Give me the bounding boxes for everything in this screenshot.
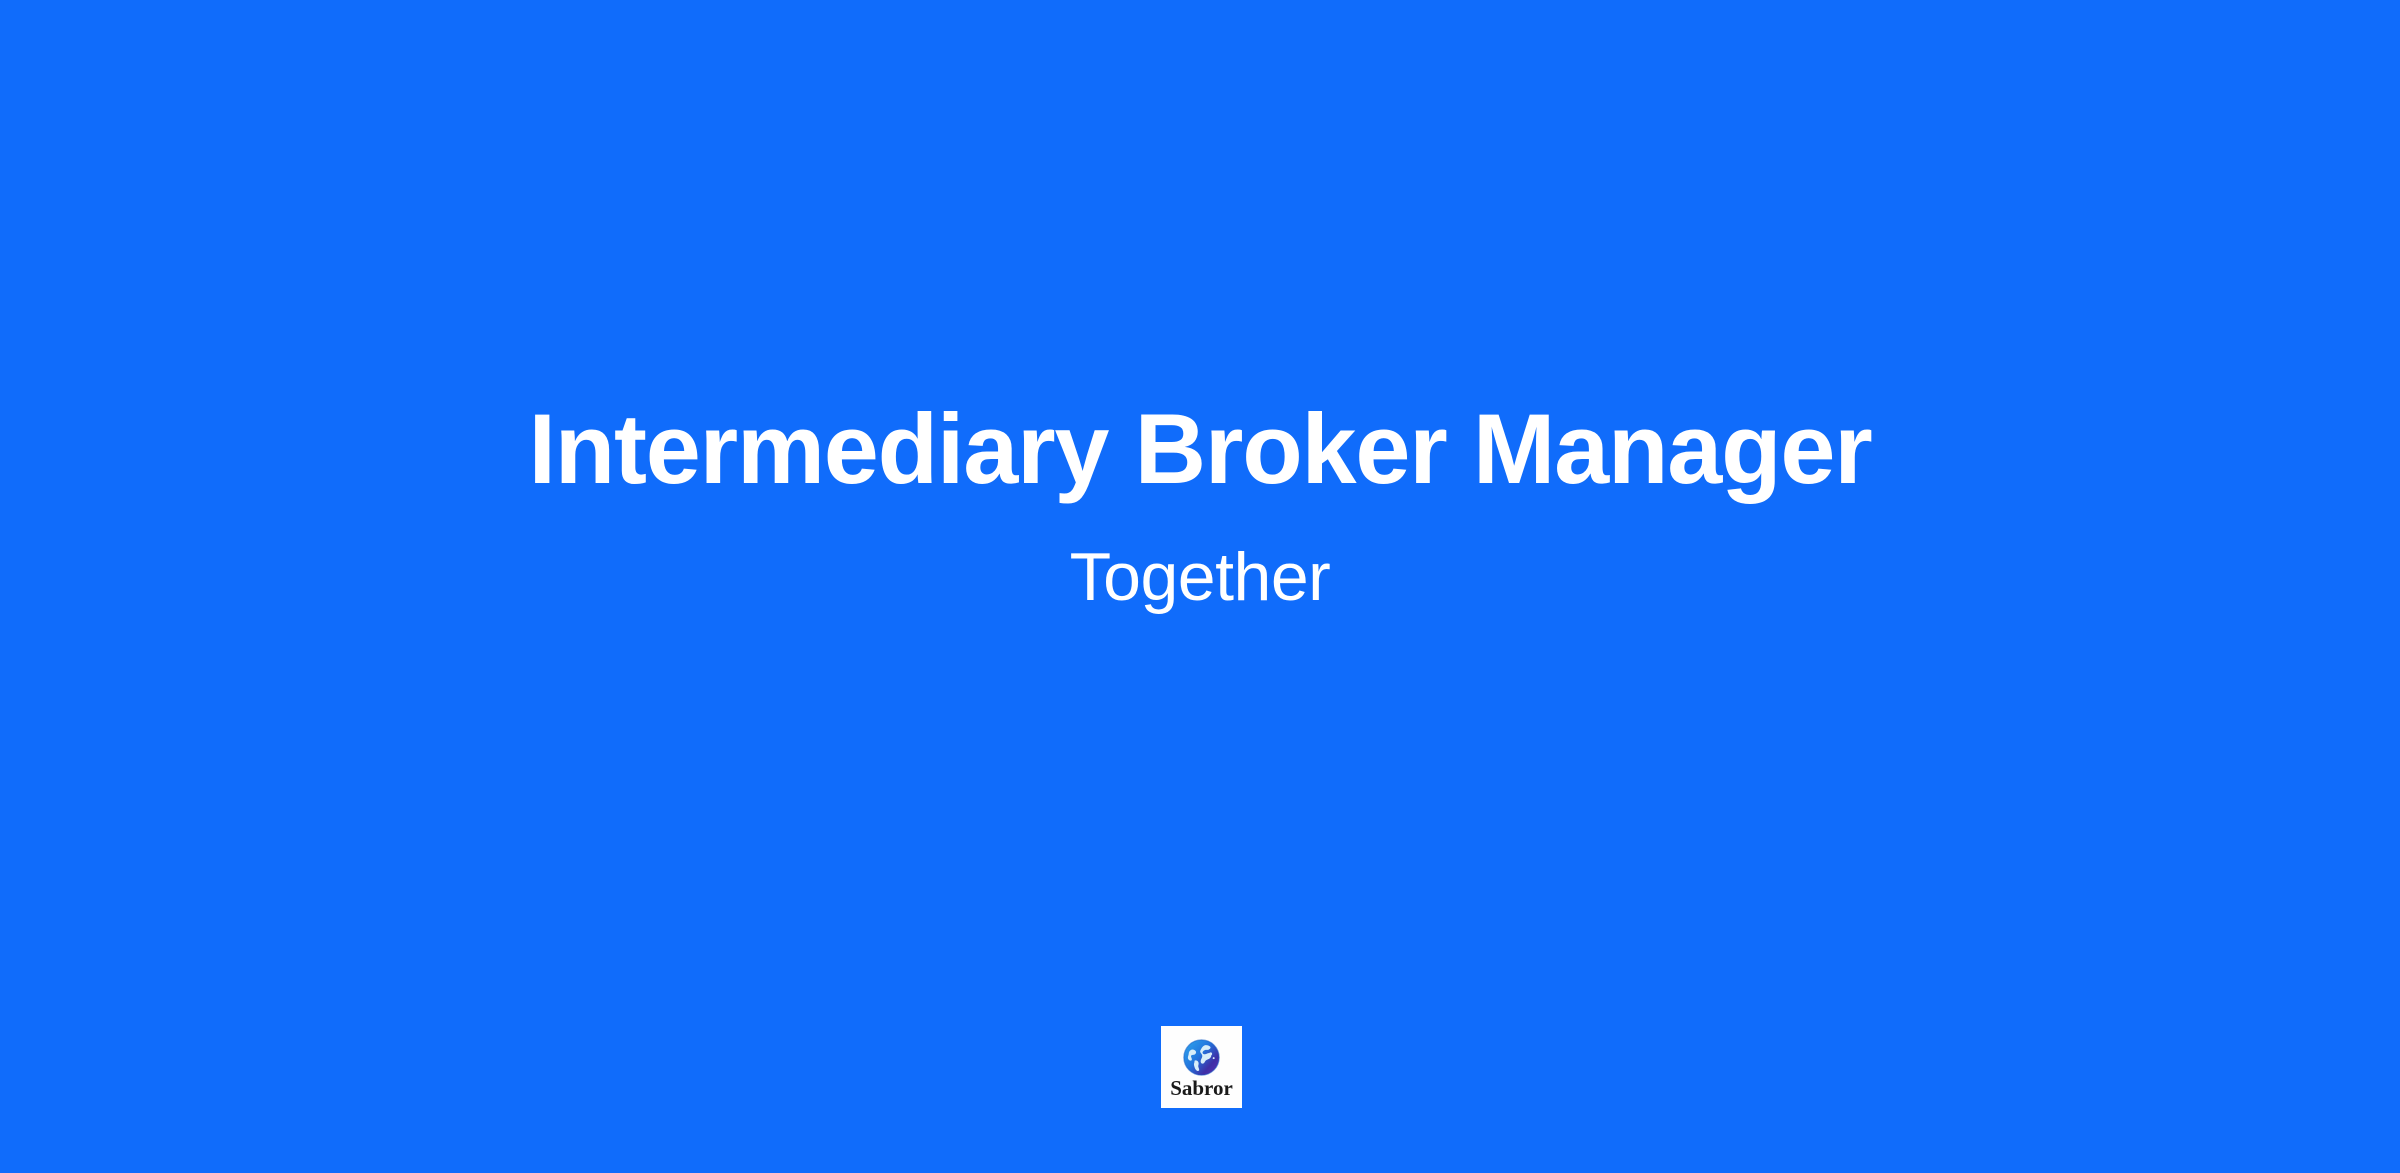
hero-text-block: Intermediary Broker Manager Together: [0, 0, 2400, 1173]
title-slide: Intermediary Broker Manager Together: [0, 0, 2400, 1173]
brand-logo: Sabror: [1161, 1026, 1242, 1108]
brand-name: Sabror: [1170, 1078, 1233, 1099]
globe-icon: [1182, 1038, 1221, 1077]
page-title: Intermediary Broker Manager: [0, 399, 2400, 498]
page-subtitle: Together: [0, 543, 2400, 611]
